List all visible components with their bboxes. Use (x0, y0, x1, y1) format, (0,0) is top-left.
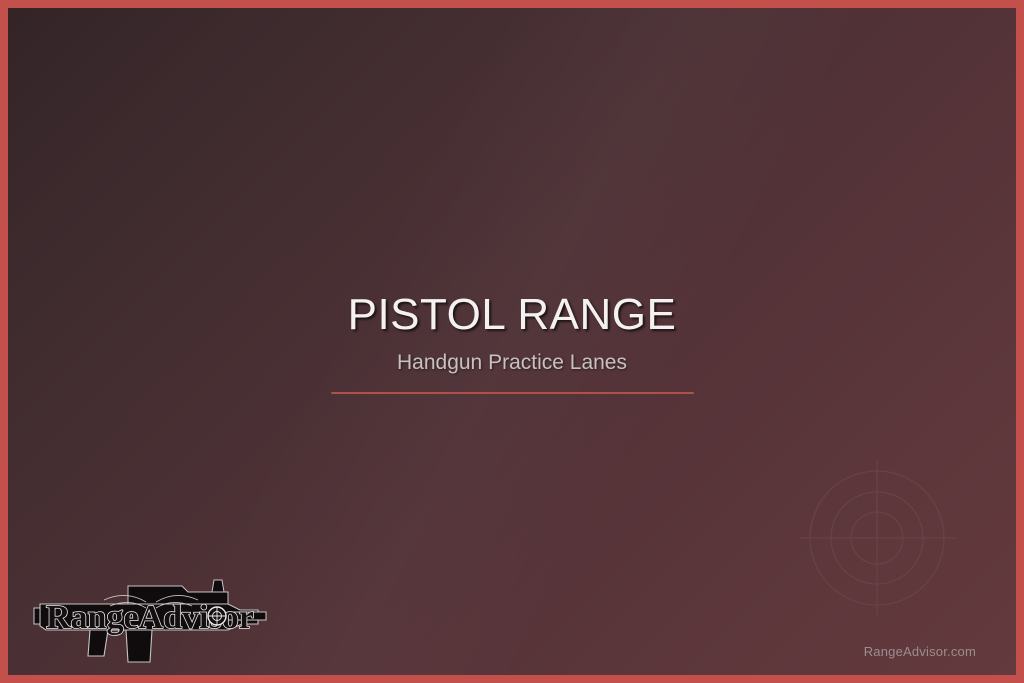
slide-content-area: PISTOL RANGE Handgun Practice Lanes (8, 8, 1016, 675)
footer-watermark: RangeAdvisor.com (864, 644, 976, 659)
page-subtitle: Handgun Practice Lanes (8, 350, 1016, 376)
crosshair-target-icon (799, 460, 955, 616)
presentation-slide: PISTOL RANGE Handgun Practice Lanes (0, 0, 1024, 683)
scope-reticle-icon (208, 607, 226, 625)
title-divider (331, 392, 694, 394)
brand-logo: RangeAdvisor (32, 570, 272, 666)
title-block: PISTOL RANGE Handgun Practice Lanes (8, 290, 1016, 394)
page-title: PISTOL RANGE (8, 290, 1016, 340)
